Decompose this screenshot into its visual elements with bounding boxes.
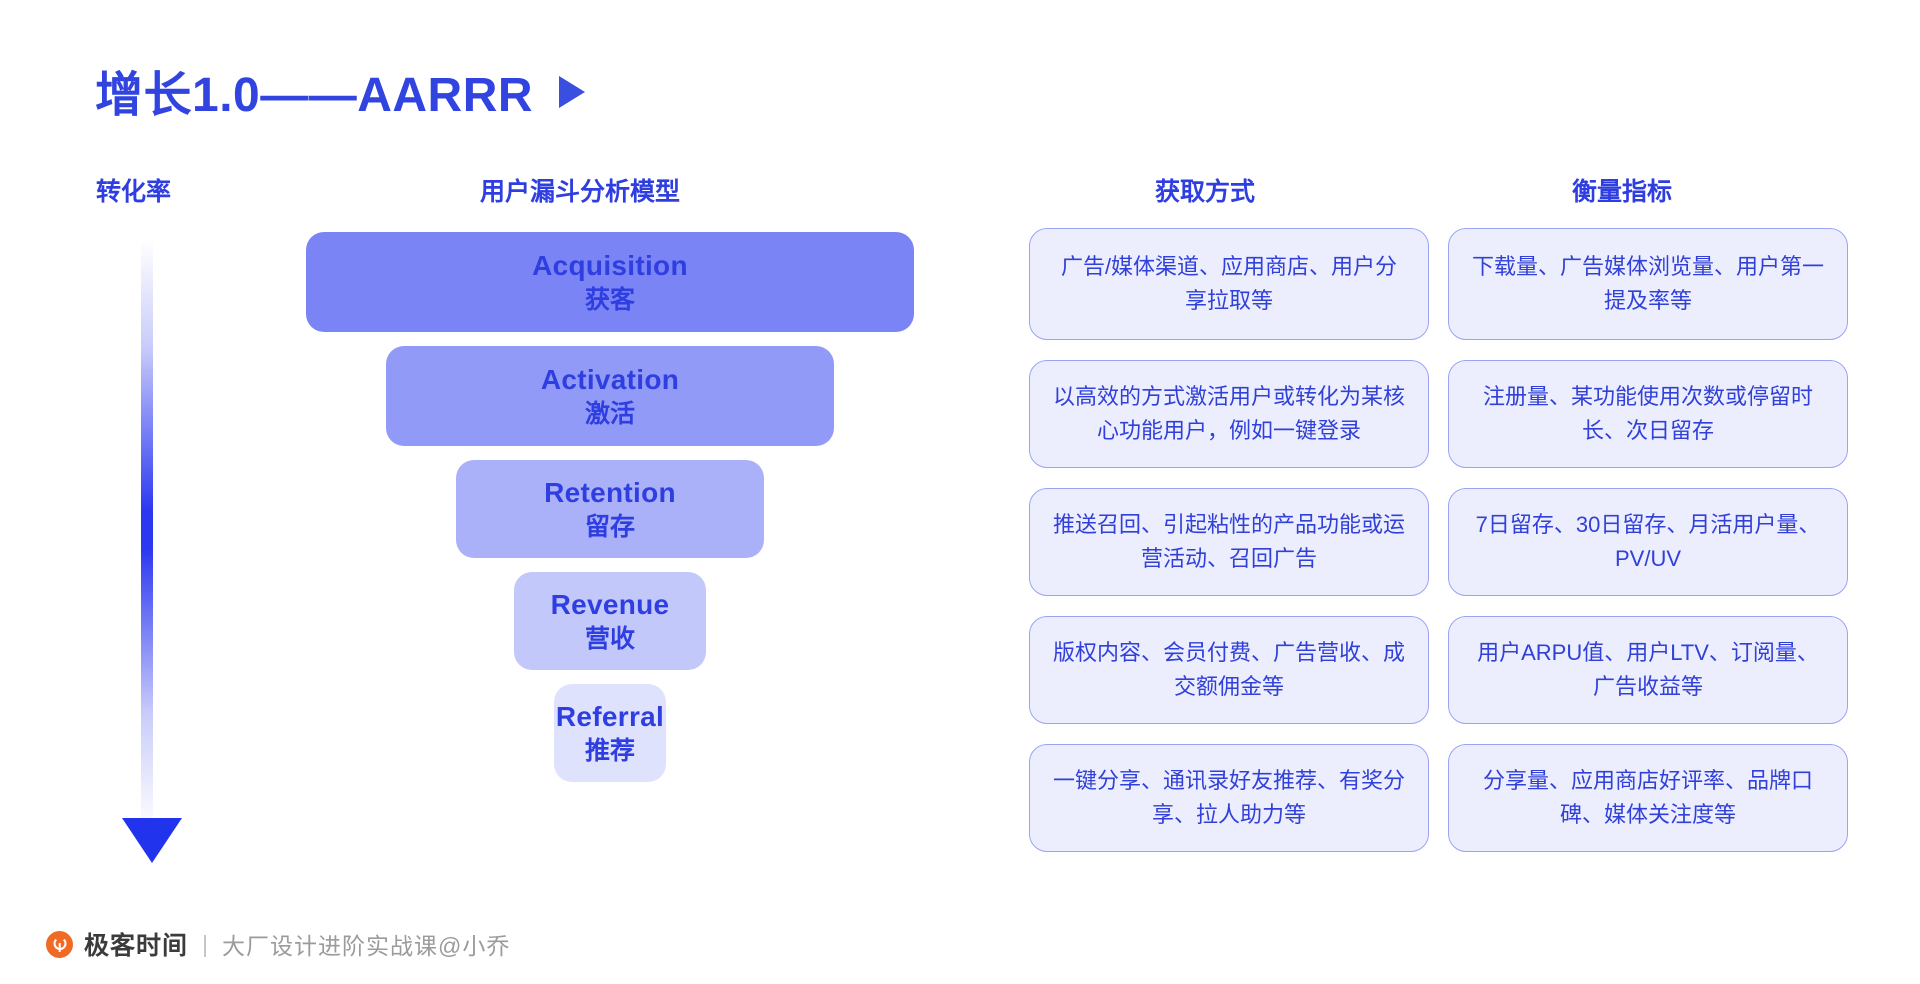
- acquisition-method-card[interactable]: 以高效的方式激活用户或转化为某核心功能用户，例如一键登录: [1029, 360, 1429, 468]
- play-triangle-icon: [559, 76, 585, 108]
- course-name: 大厂设计进阶实战课@小乔: [222, 927, 510, 961]
- conversion-rate-arrow: [132, 240, 162, 880]
- funnel-stage-activation[interactable]: Activation激活: [386, 346, 834, 446]
- footer-divider: |: [202, 931, 208, 958]
- acquisition-method-card[interactable]: 版权内容、会员付费、广告营收、成交额佣金等: [1029, 616, 1429, 724]
- funnel-stage-label-en: Activation: [541, 362, 679, 398]
- column-header-acquisition: 获取方式: [1155, 172, 1255, 208]
- arrow-down-icon: [122, 818, 182, 863]
- column-header-funnel: 用户漏斗分析模型: [480, 172, 680, 208]
- funnel-stage-label-en: Acquisition: [532, 248, 688, 284]
- funnel-chart: Acquisition获客Activation激活Retention留存Reve…: [230, 232, 990, 796]
- funnel-stage-label-en: Revenue: [551, 587, 670, 623]
- footer-branding: 极客时间 | 大厂设计进阶实战课@小乔: [46, 926, 510, 962]
- acquisition-method-card[interactable]: 推送召回、引起粘性的产品功能或运营活动、召回广告: [1029, 488, 1429, 596]
- acquisition-method-card[interactable]: 一键分享、通讯录好友推荐、有奖分享、拉人助力等: [1029, 744, 1429, 852]
- metric-card[interactable]: 下载量、广告媒体浏览量、用户第一提及率等: [1448, 228, 1848, 340]
- funnel-stage-acquisition[interactable]: Acquisition获客: [306, 232, 914, 332]
- metric-card[interactable]: 7日留存、30日留存、月活用户量、PV/UV: [1448, 488, 1848, 596]
- metrics-card-list: 下载量、广告媒体浏览量、用户第一提及率等注册量、某功能使用次数或停留时长、次日留…: [1448, 228, 1848, 872]
- funnel-stage-label-cn: 营收: [585, 623, 635, 655]
- metric-card[interactable]: 分享量、应用商店好评率、品牌口碑、媒体关注度等: [1448, 744, 1848, 852]
- column-header-conversion: 转化率: [96, 172, 171, 208]
- brand-name: 极客时间: [84, 926, 188, 962]
- metric-card[interactable]: 注册量、某功能使用次数或停留时长、次日留存: [1448, 360, 1848, 468]
- acquisition-method-card-list: 广告/媒体渠道、应用商店、用户分享拉取等以高效的方式激活用户或转化为某核心功能用…: [1029, 228, 1429, 872]
- funnel-stage-revenue[interactable]: Revenue营收: [514, 572, 706, 670]
- funnel-stage-retention[interactable]: Retention留存: [456, 460, 764, 558]
- funnel-stage-label-en: Retention: [544, 475, 676, 511]
- page-title: 增长1.0——AARRR: [95, 55, 533, 125]
- metric-card[interactable]: 用户ARPU值、用户LTV、订阅量、广告收益等: [1448, 616, 1848, 724]
- slide-title-row: 增长1.0——AARRR: [95, 55, 585, 125]
- funnel-stage-label-cn: 留存: [585, 511, 635, 543]
- funnel-stage-referral[interactable]: Referral推荐: [554, 684, 666, 782]
- funnel-stage-label-cn: 获客: [585, 284, 635, 316]
- acquisition-method-card[interactable]: 广告/媒体渠道、应用商店、用户分享拉取等: [1029, 228, 1429, 340]
- column-header-metrics: 衡量指标: [1572, 172, 1672, 208]
- arrow-shaft: [141, 240, 153, 832]
- geektime-logo-icon: [46, 931, 73, 958]
- funnel-stage-label-en: Referral: [556, 699, 664, 735]
- funnel-stage-label-cn: 推荐: [585, 735, 635, 767]
- funnel-stage-label-cn: 激活: [585, 398, 635, 430]
